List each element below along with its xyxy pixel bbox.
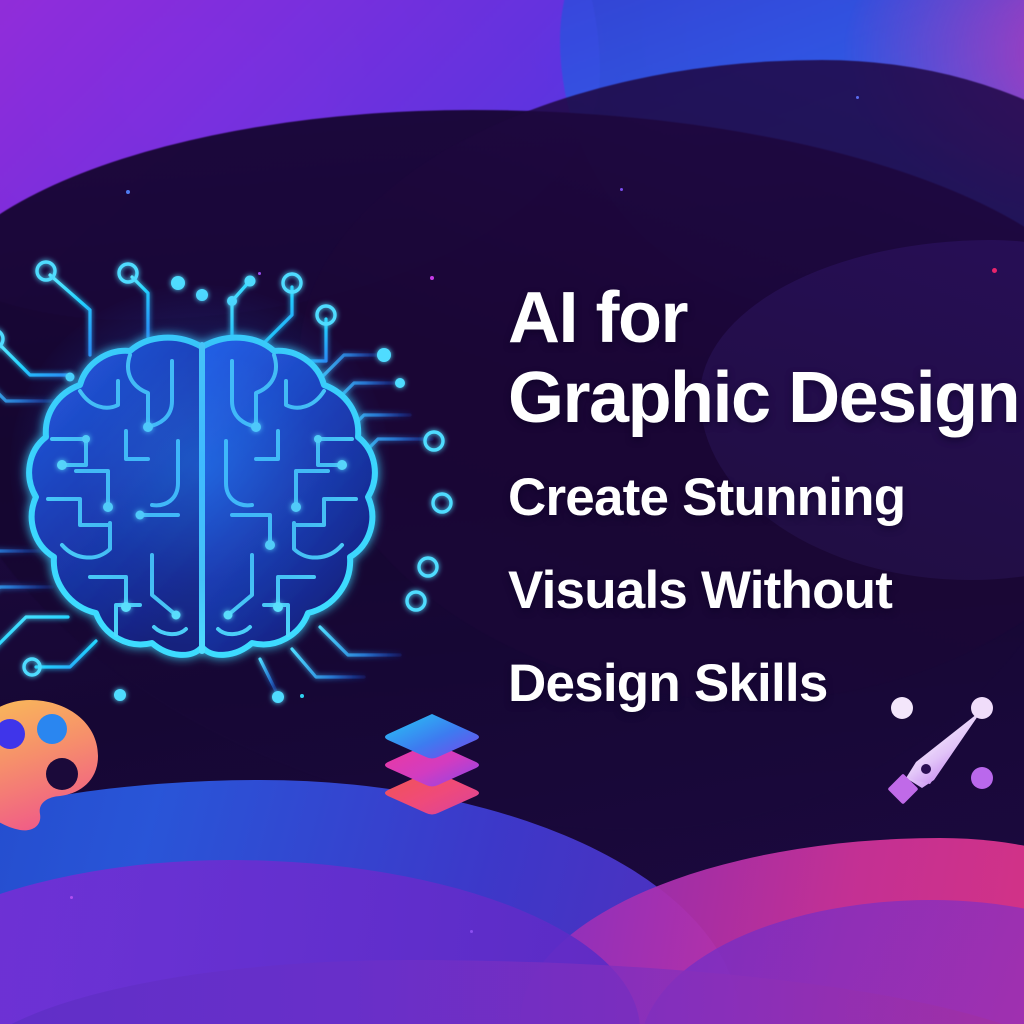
- layers-icon: [378, 712, 486, 816]
- pen-anchor-bottom: [971, 767, 993, 789]
- text-block: AI for Graphic Design Create Stunning Vi…: [508, 278, 1024, 717]
- pen-nib-hole: [921, 764, 931, 774]
- particle-dot: [620, 188, 623, 191]
- pen-tool-icon: [886, 690, 1002, 806]
- subheadline-line-1: Create Stunning: [508, 464, 1024, 531]
- banner-canvas: AI for Graphic Design Create Stunning Vi…: [0, 0, 1024, 1024]
- palette-well-blue: [37, 714, 67, 744]
- headline-line-1: AI for: [508, 278, 1024, 358]
- brain-glow: [10, 285, 390, 645]
- headline-line-2: Graphic Design: [508, 358, 1024, 438]
- subheadline-line-2: Visuals Without: [508, 557, 1024, 624]
- pen-nib-body: [906, 710, 982, 784]
- palette-thumb-hole: [46, 758, 78, 790]
- particle-dot: [470, 930, 473, 933]
- pen-anchor-left: [891, 697, 913, 719]
- palette-icon: [0, 694, 106, 834]
- pen-anchor-corner: [971, 697, 993, 719]
- particle-dot: [856, 96, 859, 99]
- particle-dot: [126, 190, 130, 194]
- ai-circuit-brain-illustration: [0, 215, 470, 715]
- particle-dot: [70, 896, 73, 899]
- layers-layer-top: [385, 714, 479, 759]
- particle-dot: [992, 268, 997, 273]
